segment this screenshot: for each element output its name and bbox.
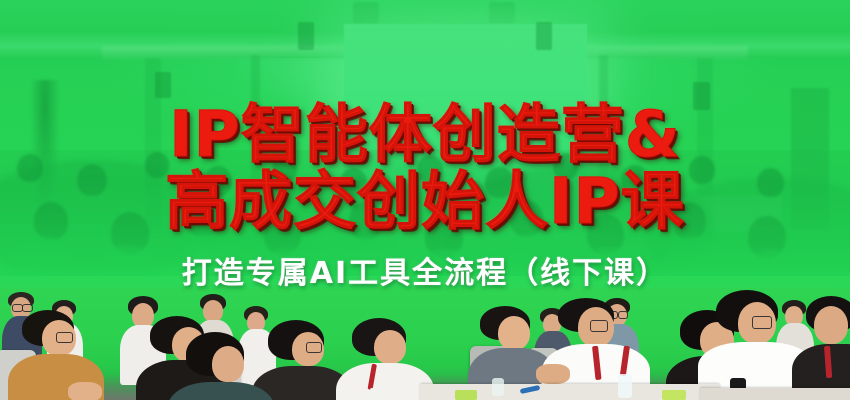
event-promo-banner: IP智能体创造营& 高成交创始人IP课 打造专属AI工具全流程（线下课） (0, 0, 850, 400)
banner-text-layer: IP智能体创造营& 高成交创始人IP课 打造专属AI工具全流程（线下课） (0, 0, 850, 400)
banner-title-line-2: 高成交创始人IP课 (0, 168, 850, 236)
banner-title-line-1: IP智能体创造营& (0, 101, 850, 169)
banner-subtitle: 打造专属AI工具全流程（线下课） (0, 248, 850, 292)
